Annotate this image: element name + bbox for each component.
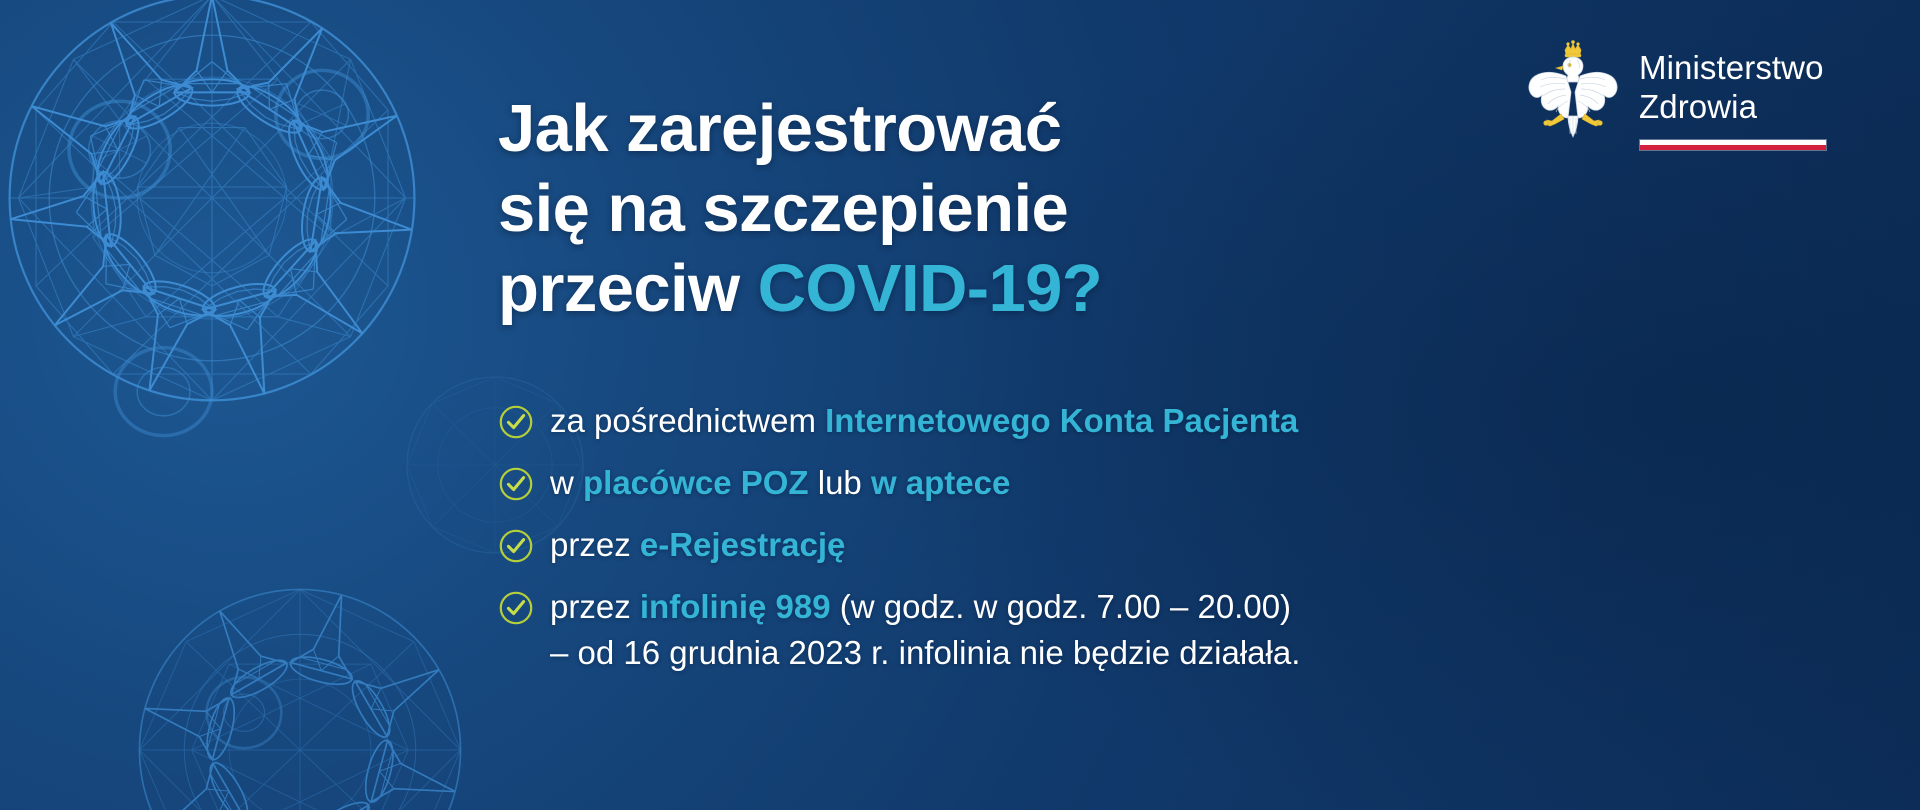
check-circle-icon (498, 528, 534, 564)
check-circle-icon (498, 590, 534, 626)
bullet-2-part-2: placówce POZ (583, 464, 809, 501)
list-item-label: przez infolinię 989 (w godz. w godz. 7.0… (550, 584, 1300, 676)
list-item-label: za pośrednictwem Internetowego Konta Pac… (550, 398, 1298, 444)
list-item: za pośrednictwem Internetowego Konta Pac… (498, 398, 1518, 444)
list-item: przez e-Rejestrację (498, 522, 1518, 568)
bullet-4-subline: – od 16 grudnia 2023 r. infolinia nie bę… (550, 630, 1300, 676)
ministry-wordmark: Ministerstwo Zdrowia (1639, 36, 1827, 151)
bullet-1-part-2: Internetowego Konta Pacjenta (825, 402, 1298, 439)
vaccination-registration-poster: Jak zarejestrować się na szczepienie prz… (0, 0, 1920, 810)
page-title: Jak zarejestrować się na szczepienie prz… (498, 89, 1478, 329)
flag-red-stripe (1640, 145, 1826, 150)
ministry-name-line-2: Zdrowia (1639, 87, 1827, 126)
headline-line-2: się na szczepienie (498, 171, 1068, 246)
list-item-label: przez e-Rejestrację (550, 522, 845, 568)
bullet-3-part-2: e-Rejestrację (640, 526, 845, 563)
list-item: przez infolinię 989 (w godz. w godz. 7.0… (498, 584, 1518, 676)
headline-line-3-plain: przeciw (498, 251, 758, 326)
bullet-2-part-1: w (550, 464, 583, 501)
bullet-1-part-1: za pośrednictwem (550, 402, 825, 439)
bullet-4-part-2: infolinię 989 (640, 588, 831, 625)
list-item: w placówce POZ lub w aptece (498, 460, 1518, 506)
ministry-logo: Ministerstwo Zdrowia (1525, 36, 1827, 151)
headline-line-1: Jak zarejestrować (498, 91, 1061, 166)
bullet-4-part-3: (w godz. w godz. 7.00 – 20.00) (831, 588, 1291, 625)
bullet-4-part-1: przez (550, 588, 640, 625)
headline-line-3-accent: COVID-19? (758, 251, 1103, 326)
bullet-2-part-4: w aptece (871, 464, 1010, 501)
bullet-2-part-3: lub (809, 464, 871, 501)
polish-flag-bar (1639, 139, 1827, 151)
polish-eagle-icon (1525, 36, 1621, 148)
ministry-name-line-1: Ministerstwo (1639, 48, 1827, 87)
check-circle-icon (498, 466, 534, 502)
bullet-3-part-1: przez (550, 526, 640, 563)
registration-methods-list: za pośrednictwem Internetowego Konta Pac… (498, 398, 1518, 676)
list-item-label: w placówce POZ lub w aptece (550, 460, 1010, 506)
check-circle-icon (498, 404, 534, 440)
